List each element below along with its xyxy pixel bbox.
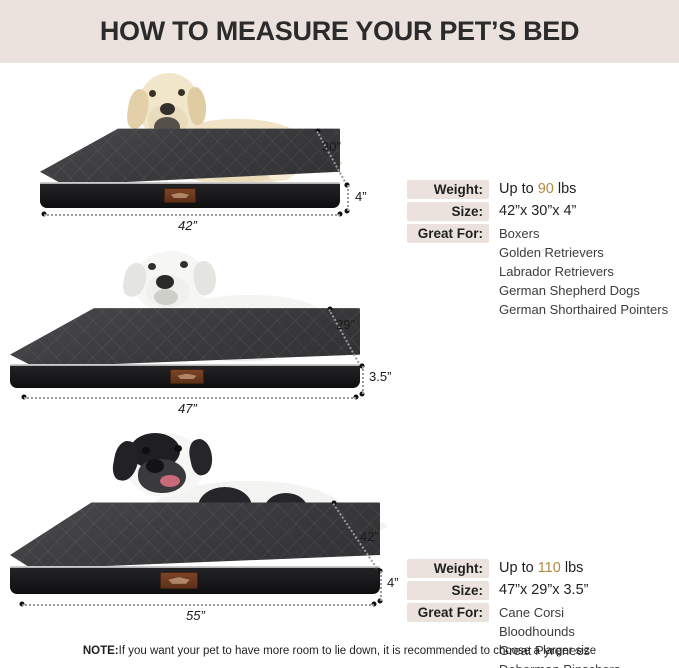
dim-line-width [24, 397, 356, 399]
dim-label-width: 55” [186, 608, 205, 623]
breed-item: Boxers [499, 224, 668, 243]
weight-number: 90 [538, 181, 554, 197]
spec-value-weight: Up to 90 lbs [489, 180, 576, 198]
spec-value-size: 42”x 30”x 4” [489, 202, 576, 220]
weight-prefix: Up to [499, 181, 538, 197]
breed-item: Doberman Pinschers [499, 660, 638, 668]
bed-medium [10, 305, 360, 393]
spec-label-great-for: Great For: [407, 224, 489, 243]
bed-small [40, 125, 340, 211]
bed-top-surface [10, 305, 360, 367]
footer-note-text: If you want your pet to have more room t… [119, 645, 597, 657]
brand-logo-patch [160, 572, 198, 589]
dim-label-depth: 42” [360, 529, 379, 544]
size-section-large: 42” 4” 55” Weight: Up to 150 lbs Size: [0, 431, 679, 636]
page-title: HOW TO MEASURE YOUR PET’S BED [100, 16, 579, 47]
dim-label-height: 4” [387, 575, 399, 590]
dim-label-width: 47” [178, 401, 197, 416]
brand-logo-patch [164, 188, 196, 203]
dim-label-height: 4” [355, 189, 367, 204]
weight-suffix: lbs [554, 181, 577, 197]
dim-label-depth: 29” [336, 317, 355, 332]
infographic-page: HOW TO MEASURE YOUR PET’S BED [0, 0, 679, 668]
bed-top-surface [40, 125, 340, 185]
spec-row-weight: Weight: Up to 90 lbs [407, 180, 679, 199]
dim-line-height [380, 571, 382, 601]
dim-line-width [44, 214, 340, 216]
bed-top-surface [10, 499, 380, 569]
dim-line-height [347, 185, 349, 211]
bed-large [10, 499, 380, 597]
footer-note-prefix: NOTE: [83, 645, 119, 657]
dim-label-width: 42” [178, 218, 197, 233]
dim-line-height [362, 366, 364, 394]
brand-logo-patch [170, 369, 204, 384]
size-section-medium: 29” 3.5” 47” Weight: Up to 110 lbs Size: [0, 247, 679, 427]
footer-note: NOTE:If you want your pet to have more r… [0, 645, 679, 657]
dim-line-width [22, 604, 374, 606]
size-section-small: 30” 4” 42” Weight: Up to 90 lbs [0, 63, 679, 243]
dim-label-height: 3.5” [369, 369, 391, 384]
spec-label-weight: Weight: [407, 180, 489, 199]
spec-label-size: Size: [407, 202, 489, 221]
spec-row-size: Size: 42”x 30”x 4” [407, 202, 679, 221]
header-band: HOW TO MEASURE YOUR PET’S BED [0, 0, 679, 63]
dim-label-depth: 30” [322, 139, 341, 154]
